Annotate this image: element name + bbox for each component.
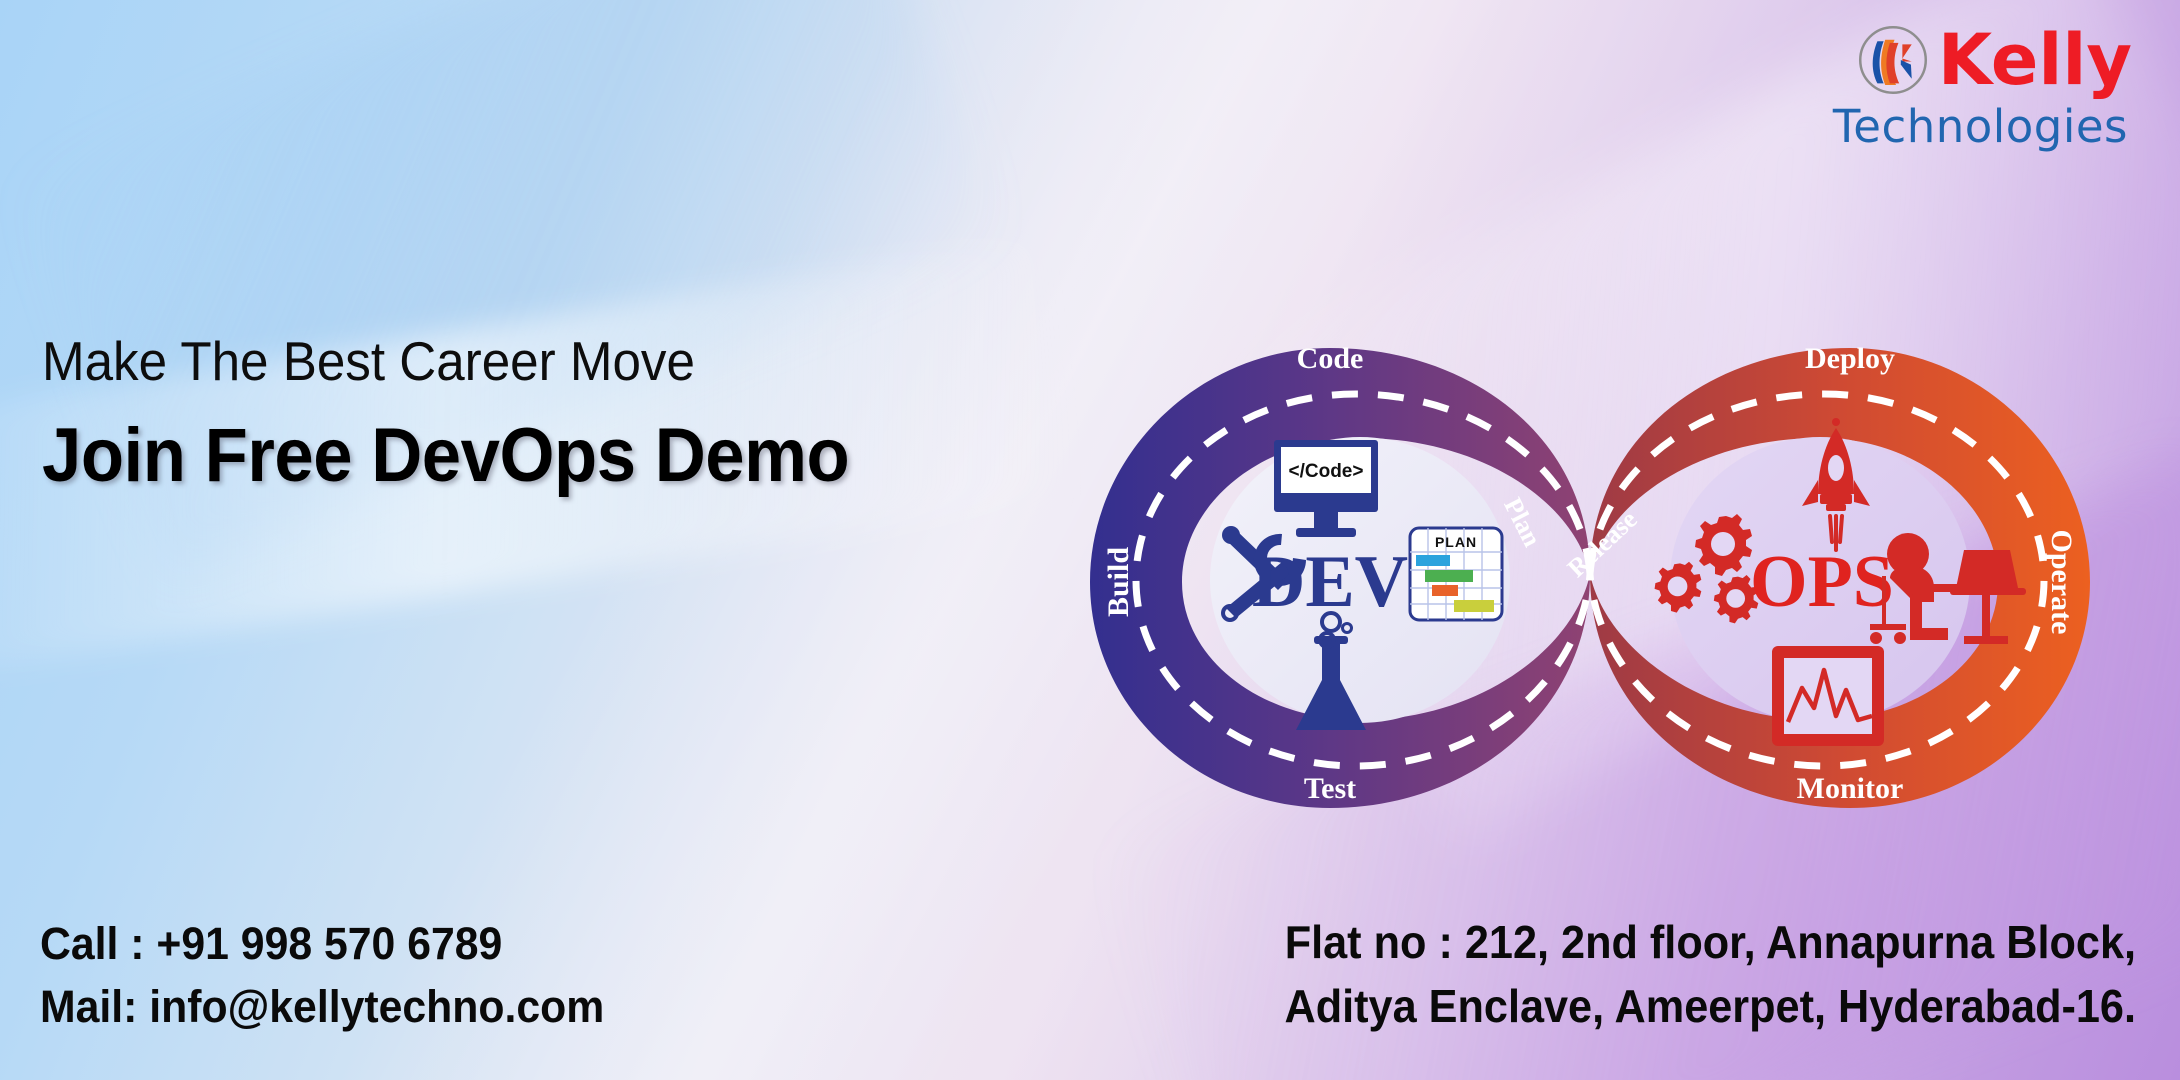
contact-block: Call : +91 998 570 6789 Mail: info@kelly… [40,912,860,1038]
contact-email[interactable]: Mail: info@kellytechno.com [40,975,819,1038]
kelly-k-emblem-icon [1854,21,1932,99]
code-monitor-caption: </Code> [1289,461,1364,482]
address-block: Flat no : 212, 2nd floor, Annapurna Bloc… [1136,910,2136,1038]
contact-phone[interactable]: Call : +91 998 570 6789 [40,912,819,975]
dev-word: DEV [1252,541,1408,623]
stage-label-deploy: Deploy [1805,342,1895,375]
logo-brand-name: Kelly [1938,24,2132,96]
headline-block: Make The Best Career Move Join Free DevO… [42,330,1042,498]
ops-word: OPS [1750,541,1894,623]
headline-title: Join Free DevOps Demo [42,414,972,498]
monitoring-graph-icon [1772,646,1884,746]
stage-label-test: Test [1304,772,1356,805]
stage-label-code: Code [1297,342,1364,375]
devops-infinity-diagram: Code Test Build Plan Deploy Monitor Oper… [1030,288,2150,860]
stage-label-monitor: Monitor [1797,772,1904,805]
headline-subtitle: Make The Best Career Move [42,330,972,392]
logo-tagline: Technologies [1760,102,2132,152]
stage-label-build: Build [1102,547,1135,617]
address-line-2: Aditya Enclave, Ameerpet, Hyderabad-16. [1196,974,2136,1038]
address-line-1: Flat no : 212, 2nd floor, Annapurna Bloc… [1196,910,2136,974]
stage-label-plan: Plan [1498,493,1547,552]
stage-label-operate: Operate [2045,530,2078,635]
kelly-technologies-logo[interactable]: Kelly Technologies [1760,18,2132,158]
plan-gantt-chart-icon: PLAN [1410,528,1502,620]
plan-gantt-caption: PLAN [1435,534,1477,550]
devops-demo-banner: Kelly Technologies Make The Best Career … [0,0,2180,1080]
